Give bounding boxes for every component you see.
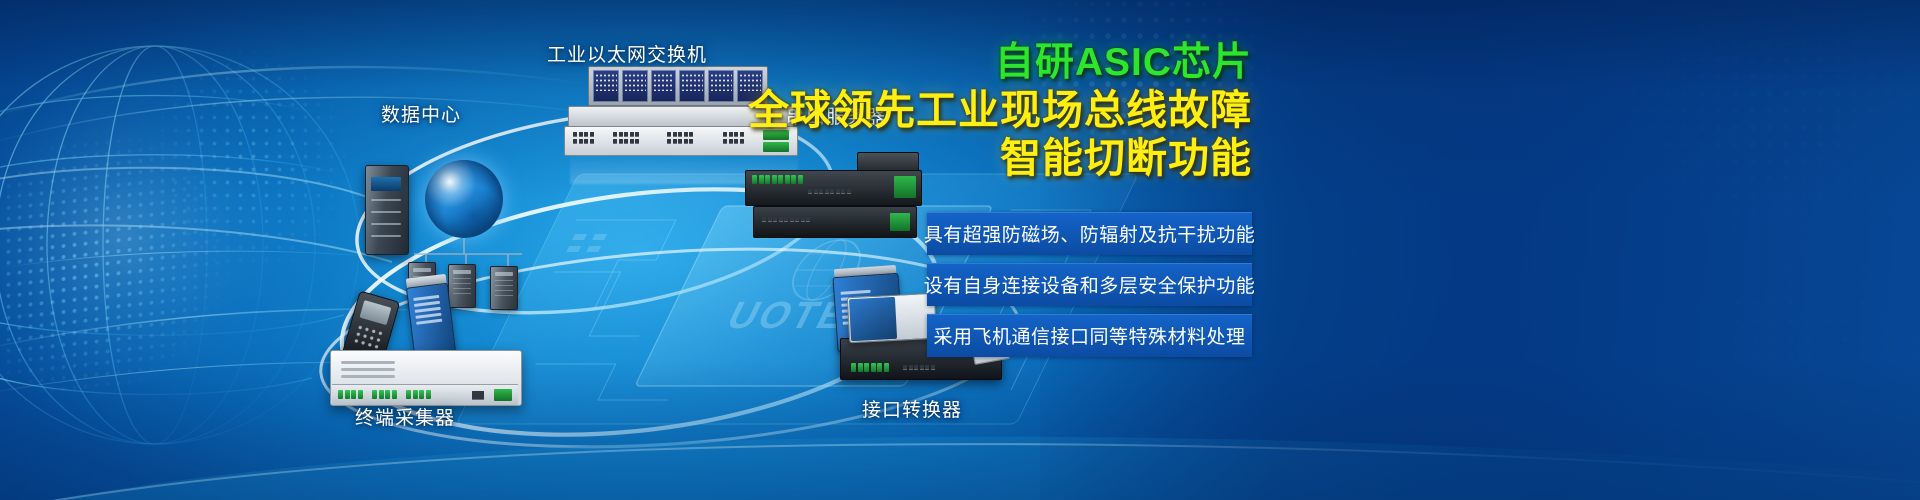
- data-center-server-tower: [365, 165, 409, 255]
- label-interface-converter: 接口转换器: [862, 395, 962, 422]
- headline-block: 自研ASIC芯片 全球领先工业现场总线故障 智能切断功能: [512, 40, 1252, 183]
- terminal-collector-device: [330, 340, 520, 410]
- label-data-center: 数据中心: [381, 100, 461, 127]
- headline-line-2: 全球领先工业现场总线故障: [512, 86, 1252, 134]
- feature-item-1: 具有超强防磁场、防辐射及抗干扰功能: [927, 212, 1252, 255]
- serial-converter-small: [847, 293, 937, 344]
- globe-icon: [425, 160, 503, 238]
- feature-list: 具有超强防磁场、防辐射及抗干扰功能 设有自身连接设备和多层安全保护功能 采用飞机…: [927, 212, 1252, 365]
- collector-front-panel: [332, 384, 518, 405]
- serial-server-second-unit: [753, 206, 917, 238]
- promo-banner: UOTEK: [0, 0, 1920, 500]
- server-tower-display: [371, 177, 401, 191]
- feature-item-2: 设有自身连接设备和多层安全保护功能: [927, 263, 1252, 306]
- rack-server-2: [448, 264, 476, 308]
- feature-item-3: 采用飞机通信接口同等特殊材料处理: [927, 314, 1252, 357]
- headline-line-3: 智能切断功能: [512, 134, 1252, 182]
- label-terminal-collector: 终端采集器: [355, 403, 455, 430]
- headline-line-1: 自研ASIC芯片: [512, 40, 1252, 86]
- small-converter-faceplate: [849, 297, 897, 341]
- rack-server-3: [490, 266, 518, 310]
